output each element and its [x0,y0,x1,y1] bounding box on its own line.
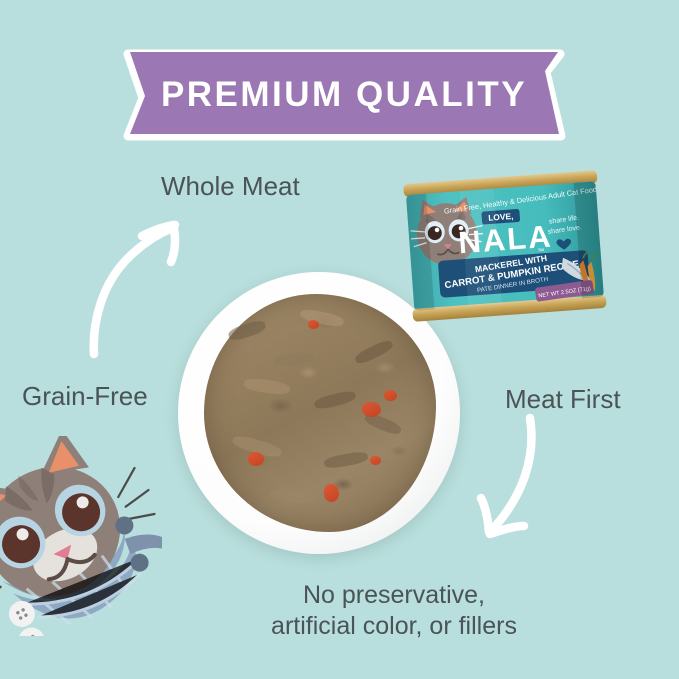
cat-food-pate [204,294,436,532]
cat-mascot-illustration [0,436,162,636]
product-can: Grain Free, Healthy & Delicious Adult Ca… [401,169,609,325]
carrot-piece [384,390,397,401]
feature-label-no-preservatives: No preservative, artificial color, or fi… [239,580,549,642]
carrot-piece [308,320,319,329]
claim-line-1: No preservative, [239,580,549,611]
banner-ribbon-shape [118,46,570,144]
carrot-piece [248,452,264,466]
infographic-canvas: PREMIUM QUALITY Whole Meat Grain-Free Me… [0,0,679,679]
premium-quality-banner: PREMIUM QUALITY [118,46,570,144]
curved-arrow-up-right-icon [80,210,200,365]
curved-arrow-down-left-icon [460,410,590,565]
carrot-piece [324,484,339,502]
carrot-piece [362,402,381,417]
feature-label-grain-free: Grain-Free [22,381,148,412]
carrot-piece [370,456,381,465]
feature-label-whole-meat: Whole Meat [161,171,300,202]
claim-line-2: artificial color, or fillers [239,611,549,642]
